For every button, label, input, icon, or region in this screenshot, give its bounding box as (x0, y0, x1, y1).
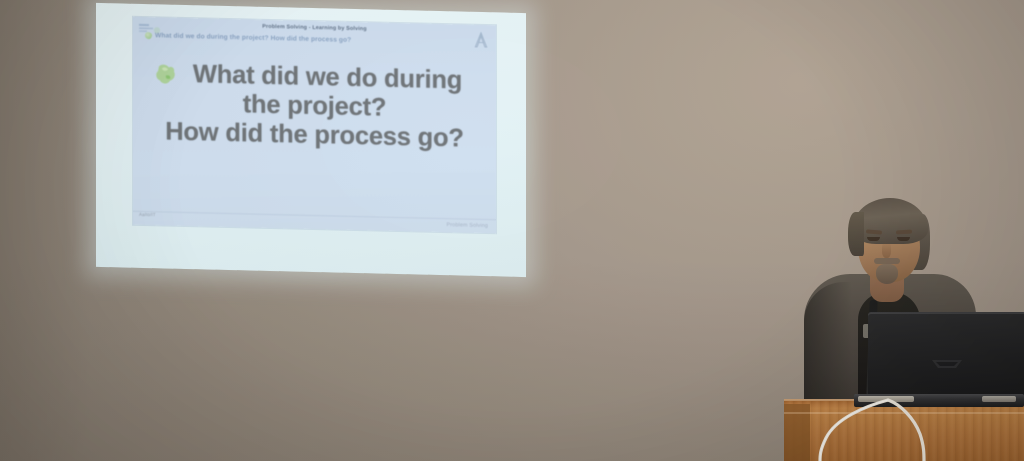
scene-vignette (0, 0, 1024, 461)
lecture-room-scene: Problem Solving - Learning by Solving Wh… (0, 0, 1024, 461)
